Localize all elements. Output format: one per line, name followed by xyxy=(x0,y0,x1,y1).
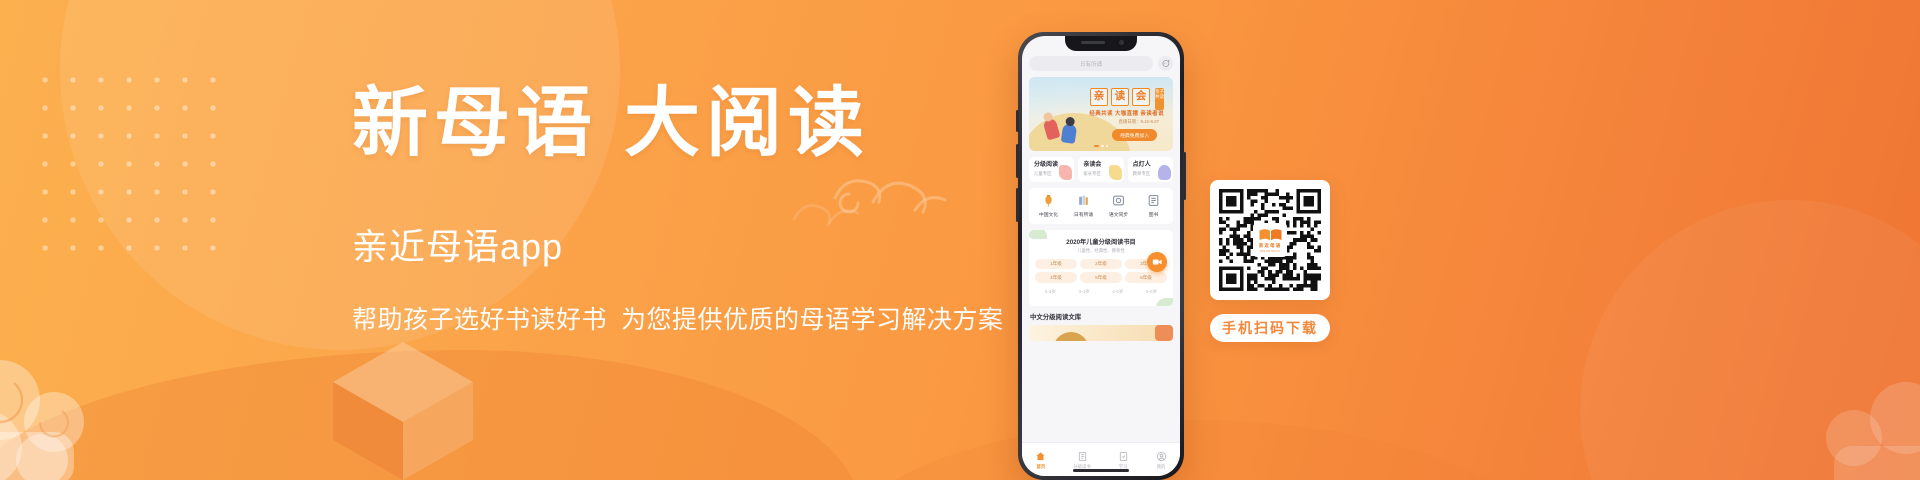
card-teacher-zone[interactable]: 点灯人 教师专区 xyxy=(1128,157,1173,182)
card-decor xyxy=(1158,165,1171,180)
leaf-decor xyxy=(1029,230,1047,239)
hero-subtitle: 经典共读 大咖直播 亲读者说 xyxy=(1089,109,1164,117)
tab-study[interactable]: 学习 xyxy=(1118,451,1129,470)
quick-link-label: 日有所诵 xyxy=(1074,211,1093,218)
app-name: 亲近母语app xyxy=(352,218,1052,270)
card-parent-club[interactable]: 亲读会 家长专区 xyxy=(1078,157,1123,182)
category-cards: 分级阅读 儿童专区 亲读会 家长专区 点灯人 教师专区 xyxy=(1029,157,1173,182)
hero-char-3: 会 xyxy=(1132,88,1150,106)
quick-link-row: 中国文化 日有所诵 语文同步 xyxy=(1029,188,1173,224)
phone-notch xyxy=(1065,36,1137,51)
hero-char-2: 读 xyxy=(1111,88,1129,106)
leaf-decor xyxy=(1156,298,1173,306)
tagline-part2: 为您提供优质的母语学习解决方案 xyxy=(621,306,1004,334)
quick-link-label: 图书 xyxy=(1149,211,1159,218)
library-title: 中文分级阅读文库 xyxy=(1030,312,1173,321)
tab-home[interactable]: 首页 xyxy=(1035,451,1046,470)
grade-chip[interactable]: 2年级 xyxy=(1080,259,1122,270)
library-banner[interactable] xyxy=(1029,325,1173,341)
age-chip[interactable]: 5-6岁 xyxy=(1136,286,1167,297)
open-book-icon xyxy=(1258,228,1283,242)
quick-link-books[interactable]: 图书 xyxy=(1139,194,1169,218)
search-input[interactable]: 日有所诵 xyxy=(1029,56,1153,71)
hero-join-button[interactable]: 经典免费加入 xyxy=(1112,129,1157,141)
headline-right: 大阅读 xyxy=(624,82,870,166)
phone-mute-switch xyxy=(1016,110,1019,132)
age-chip[interactable]: 0-3岁 xyxy=(1035,286,1066,297)
chat-bubble-icon[interactable] xyxy=(1158,56,1173,71)
phone-screen: 日有所诵 亲 读 xyxy=(1022,36,1180,476)
tab-label: 我的 xyxy=(1157,464,1166,470)
app-search-bar: 日有所诵 xyxy=(1029,56,1173,71)
phone-power-button xyxy=(1183,152,1186,200)
quick-link-label: 语文同步 xyxy=(1109,211,1128,218)
download-button[interactable]: 手机扫码下载 xyxy=(1210,314,1330,342)
age-row: 0-3岁 3-4岁 4-5岁 5-6岁 xyxy=(1035,286,1167,297)
booklist-title: 2020年儿童分级阅读书目 xyxy=(1035,237,1167,246)
app-content: 日有所诵 亲 读 xyxy=(1022,36,1180,341)
tab-graded-books[interactable]: 分级读书 xyxy=(1073,451,1091,470)
book-stack-icon xyxy=(1077,194,1091,208)
tab-profile[interactable]: 我的 xyxy=(1156,451,1167,470)
grade-chip[interactable]: 5年级 xyxy=(1080,272,1122,283)
illustration-child-2 xyxy=(1061,123,1078,144)
hero-char-1: 亲 xyxy=(1090,88,1108,106)
phone-mockup: 日有所诵 亲 读 xyxy=(1018,32,1184,480)
decor-hill-right xyxy=(840,420,1540,480)
qr-code: 亲近母语 QINJIN MUYU xyxy=(1210,180,1330,300)
headline-left: 新母语 xyxy=(352,82,598,166)
grade-chip[interactable]: 4年级 xyxy=(1035,272,1077,283)
book-icon xyxy=(1147,194,1161,208)
qr-logo-cn: 亲近母语 xyxy=(1259,243,1281,249)
card-graded-reading[interactable]: 分级阅读 儿童专区 xyxy=(1029,157,1074,182)
hero-date: 直播日期：9.16-9.27 xyxy=(1118,119,1159,125)
quick-link-label: 中国文化 xyxy=(1039,211,1058,218)
tagline-part1: 帮助孩子选好书读好书 xyxy=(352,306,607,334)
phone-volume-up-button xyxy=(1016,144,1019,178)
dot-grid-pattern xyxy=(27,62,237,252)
booklist-subtitle: 儿童性、经典性、教育性 xyxy=(1035,248,1167,254)
lantern-icon xyxy=(1042,194,1056,208)
banner-copy: 新母语大阅读 亲近母语app 帮助孩子选好书读好书为您提供优质的母语学习解决方案 xyxy=(352,86,1052,336)
grade-chip[interactable]: 1年级 xyxy=(1035,259,1077,270)
carousel-dots[interactable] xyxy=(1094,145,1108,148)
booklist-card[interactable]: 2020年儿童分级阅读书目 儿童性、经典性、教育性 1年级 2年级 3年级 4年… xyxy=(1029,230,1173,306)
card-decor xyxy=(1059,165,1072,180)
auspicious-cloud-icon xyxy=(0,336,204,480)
age-chip[interactable]: 3-4岁 xyxy=(1069,286,1100,297)
page-title: 新母语大阅读 xyxy=(352,86,1052,162)
hero-tag: 亲子共读 xyxy=(1155,88,1164,110)
quick-link-daily-recite[interactable]: 日有所诵 xyxy=(1069,194,1099,218)
hero-banner[interactable]: 亲 读 会 亲子共读 经典共读 大咖直播 亲读者说 直播日期：9.16-9.27… xyxy=(1029,77,1173,151)
qr-center-logo: 亲近母语 QINJIN MUYU xyxy=(1253,223,1287,257)
hero-title: 亲 读 会 亲子共读 xyxy=(1090,88,1164,110)
quick-link-textbook-sync[interactable]: 语文同步 xyxy=(1104,194,1134,218)
qr-logo-en: QINJIN MUYU xyxy=(1260,250,1280,253)
home-indicator xyxy=(1073,469,1129,472)
isometric-cube-icon xyxy=(318,320,488,480)
card-decor xyxy=(1109,165,1122,180)
quick-link-chinese-culture[interactable]: 中国文化 xyxy=(1034,194,1064,218)
qr-section: 亲近母语 QINJIN MUYU 手机扫码下载 xyxy=(1210,180,1330,342)
promo-banner: 新母语大阅读 亲近母语app 帮助孩子选好书读好书为您提供优质的母语学习解决方案… xyxy=(0,0,1920,480)
camera-icon xyxy=(1112,194,1126,208)
phone-volume-down-button xyxy=(1016,188,1019,222)
tab-label: 首页 xyxy=(1037,464,1046,470)
age-chip[interactable]: 4-5岁 xyxy=(1103,286,1134,297)
play-video-icon[interactable] xyxy=(1147,252,1167,272)
auspicious-cloud-right-icon xyxy=(1720,358,1920,480)
grade-chip[interactable]: 6年级 xyxy=(1125,272,1167,283)
grade-row-2: 4年级 5年级 6年级 xyxy=(1035,272,1167,283)
tagline: 帮助孩子选好书读好书为您提供优质的母语学习解决方案 xyxy=(352,300,1052,336)
